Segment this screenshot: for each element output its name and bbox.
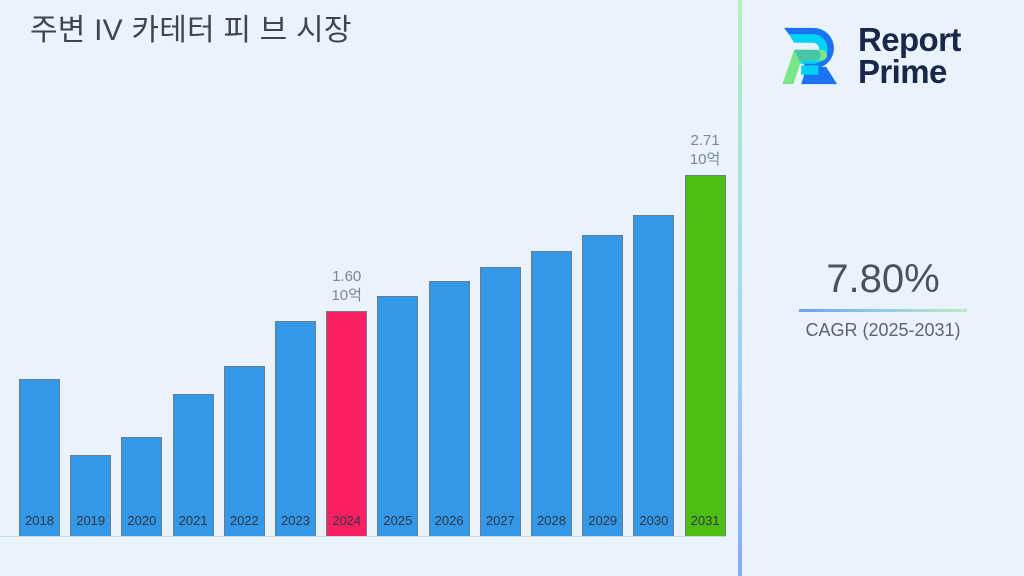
bar-2022[interactable] [224,366,265,536]
x-axis-tick-2023: 2023 [281,513,310,528]
side-panel: Report Prime 7.80% CAGR (2025-2031) [742,0,1024,576]
bar-value-unit-2024: 10억 [331,286,362,305]
x-axis-tick-2029: 2029 [588,513,617,528]
bar-group-2031: 2.7110억2031 [685,135,726,536]
bar-group-2019: 2019 [70,415,111,536]
x-axis-tick-2024: 2024 [332,513,361,528]
x-axis-tick-2019: 2019 [76,513,105,528]
bar-group-2025: 2025 [377,256,418,536]
bar-group-2027: 2027 [480,227,521,536]
bar-2026[interactable] [429,281,470,536]
bar-2030[interactable] [633,215,674,536]
bar-group-2024: 1.6010억2024 [326,271,367,536]
bar-group-2030: 2030 [633,175,674,536]
x-axis-tick-2021: 2021 [179,513,208,528]
bar-value-number-2031: 2.71 [690,131,721,150]
bar-2027[interactable] [480,267,521,536]
bar-2031[interactable] [685,175,726,536]
bar-value-number-2024: 1.60 [331,267,362,286]
x-axis-tick-2027: 2027 [486,513,515,528]
bar-group-2018: 2018 [19,339,60,536]
x-axis-tick-2028: 2028 [537,513,566,528]
bar-value-unit-2031: 10억 [690,150,721,169]
plot-area: 2018201920202021202220231.6010억202420252… [0,0,738,576]
chart-panel: 주변 IV 카테터 피 브 시장 20182019202020212022202… [0,0,738,576]
brand-name-line2: Prime [858,53,947,90]
cagr-caption: CAGR (2025-2031) [742,318,1024,342]
bar-group-2028: 2028 [531,211,572,536]
bar-value-label-2031: 2.7110억 [690,131,721,169]
x-axis-tick-2026: 2026 [435,513,464,528]
chart-screenshot-root: 주변 IV 카테터 피 브 시장 20182019202020212022202… [0,0,1024,576]
bar-value-label-2024: 1.6010억 [331,267,362,305]
bar-2025[interactable] [377,296,418,536]
x-axis-baseline [0,536,726,537]
report-prime-r-mark-icon [770,17,848,95]
x-axis-tick-2022: 2022 [230,513,259,528]
cagr-block: 7.80% CAGR (2025-2031) [742,255,1024,342]
bar-2024[interactable] [326,311,367,536]
x-axis-tick-2018: 2018 [25,513,54,528]
brand-wordmark: Report Prime [858,24,961,89]
bar-group-2021: 2021 [173,354,214,536]
x-axis-tick-2031: 2031 [691,513,720,528]
bar-group-2020: 2020 [121,397,162,536]
bar-2029[interactable] [582,235,623,536]
bar-2028[interactable] [531,251,572,536]
bar-group-2023: 2023 [275,281,316,536]
bar-group-2022: 2022 [224,326,265,536]
x-axis-tick-2025: 2025 [383,513,412,528]
bar-2023[interactable] [275,321,316,536]
bar-group-2026: 2026 [429,241,470,536]
cagr-divider-rule [799,309,967,312]
x-axis-tick-2030: 2030 [639,513,668,528]
x-axis-tick-2020: 2020 [127,513,156,528]
cagr-value: 7.80% [742,255,1024,303]
bar-group-2029: 2029 [582,195,623,536]
brand-logo: Report Prime [770,10,1018,102]
